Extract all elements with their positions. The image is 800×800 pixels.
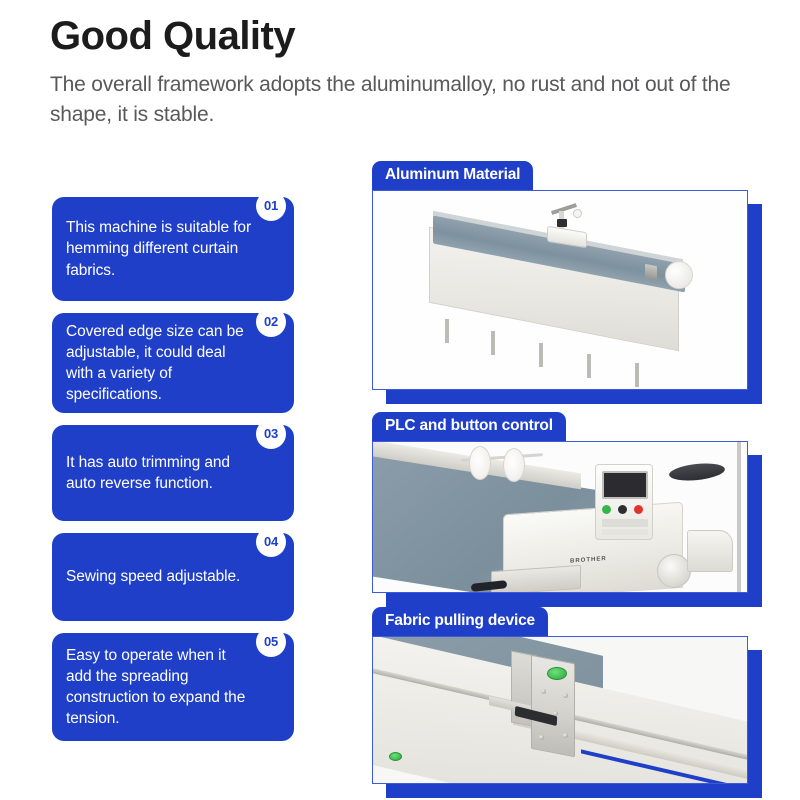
feature-card[interactable]: 05 Easy to operate when it add the sprea… <box>52 633 294 741</box>
thread-spool <box>469 446 491 480</box>
feature-card[interactable]: 04 Sewing speed adjustable. <box>52 533 294 621</box>
photo-frame[interactable] <box>372 190 748 390</box>
feature-text: Easy to operate when it add the spreadin… <box>66 645 254 729</box>
feature-text: Sewing speed adjustable. <box>66 566 240 587</box>
machine-leg <box>491 331 495 355</box>
plc-display-screen[interactable] <box>602 471 648 499</box>
sewing-head <box>543 207 587 249</box>
feature-number-badge: 03 <box>256 419 286 449</box>
photo-panel-fabric-pulling-device: Fabric pulling device <box>372 636 748 784</box>
photo-frame[interactable] <box>372 636 748 784</box>
feature-card[interactable]: 01 This machine is suitable for hemming … <box>52 197 294 301</box>
photo-frame[interactable]: BROTHER <box>372 441 748 593</box>
photo-panel-plc-button-control: PLC and button control BROTHER <box>372 441 748 593</box>
screw-head <box>541 689 546 694</box>
feature-text: This machine is suitable for hemming dif… <box>66 217 254 280</box>
fabric-clamp <box>645 264 657 280</box>
green-rail-stopper <box>389 752 402 761</box>
page-subtitle: The overall framework adopts the aluminu… <box>50 70 750 130</box>
thread-tray <box>668 461 725 483</box>
motor-cover <box>687 530 733 572</box>
photo-image-plc-control: BROTHER <box>373 442 747 592</box>
sewing-body <box>547 226 587 248</box>
feature-text: It has auto trimming and auto reverse fu… <box>66 452 254 494</box>
sewing-control-panel <box>557 219 567 227</box>
feature-number-badge: 01 <box>256 191 286 221</box>
machine-leg <box>587 354 591 378</box>
screw-head <box>539 735 544 740</box>
photo-image-pulling-device <box>373 637 747 783</box>
thread-spool <box>573 209 582 218</box>
plc-control-box <box>595 464 653 540</box>
support-stand <box>737 442 741 592</box>
machine-leg <box>539 343 543 367</box>
hand-wheel <box>657 554 691 588</box>
page-title: Good Quality <box>50 14 770 58</box>
machine-leg <box>445 319 449 343</box>
feature-number-badge: 05 <box>256 627 286 657</box>
photo-image-hemming-machine <box>373 191 747 389</box>
machine-leg <box>635 363 639 387</box>
poster-page: Good Quality The overall framework adopt… <box>0 0 800 800</box>
feature-list: 01 This machine is suitable for hemming … <box>52 197 294 753</box>
thread-spool <box>503 448 525 482</box>
switch-row[interactable] <box>602 519 648 527</box>
screw-head <box>553 711 558 716</box>
photo-label: Fabric pulling device <box>372 607 548 636</box>
fabric-roll <box>665 261 693 289</box>
green-release-button[interactable] <box>547 667 567 680</box>
switch-row[interactable] <box>602 529 648 535</box>
screw-head <box>563 733 568 738</box>
feature-number-badge: 04 <box>256 527 286 557</box>
feature-number-badge: 02 <box>256 307 286 337</box>
photo-label: PLC and button control <box>372 412 566 441</box>
machine-brand-label: BROTHER <box>570 556 607 565</box>
feature-card[interactable]: 03 It has auto trimming and auto reverse… <box>52 425 294 521</box>
black-mode-button[interactable] <box>618 505 627 514</box>
fabric-pulling-clamp <box>511 649 589 759</box>
photo-label: Aluminum Material <box>372 161 533 190</box>
plc-button-row <box>602 505 643 514</box>
red-stop-button[interactable] <box>634 505 643 514</box>
photo-panel-aluminum-material: Aluminum Material <box>372 190 748 390</box>
feature-card[interactable]: 02 Covered edge size can be adjustable, … <box>52 313 294 413</box>
feature-text: Covered edge size can be adjustable, it … <box>66 321 254 405</box>
screw-head <box>563 693 568 698</box>
green-start-button[interactable] <box>602 505 611 514</box>
header: Good Quality The overall framework adopt… <box>50 14 770 130</box>
